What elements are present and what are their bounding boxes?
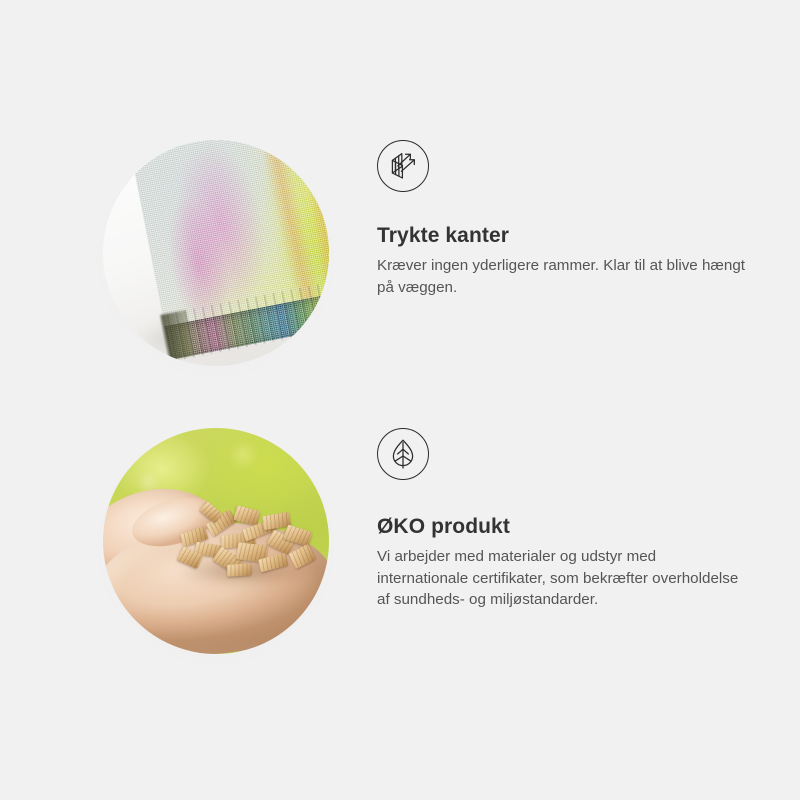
circular-image-mask: [103, 428, 329, 654]
wood-chips-in-hands-photo: [103, 428, 329, 654]
feature-title: ØKO produkt: [377, 515, 757, 539]
feature-text-printed-edges: Trykte kanter Kræver ingen yderligere ra…: [377, 140, 757, 298]
wrapped-canvas-edge-icon: [377, 140, 429, 192]
feature-description: Vi arbejder med materialer og udstyr med…: [377, 546, 749, 611]
feature-image-eco-product: [103, 428, 329, 654]
product-features-panel: Trykte kanter Kræver ingen yderligere ra…: [0, 0, 800, 800]
feature-title: Trykte kanter: [377, 224, 757, 248]
feature-image-printed-edges: [103, 140, 329, 366]
canvas-print-photo: [103, 140, 329, 366]
feature-description: Kræver ingen yderligere rammer. Klar til…: [377, 255, 749, 298]
circular-image-mask: [103, 140, 329, 366]
leaf-icon: [377, 428, 429, 480]
feature-text-eco-product: ØKO produkt Vi arbejder med materialer o…: [377, 428, 757, 611]
wood-chip-pile: [177, 500, 319, 590]
